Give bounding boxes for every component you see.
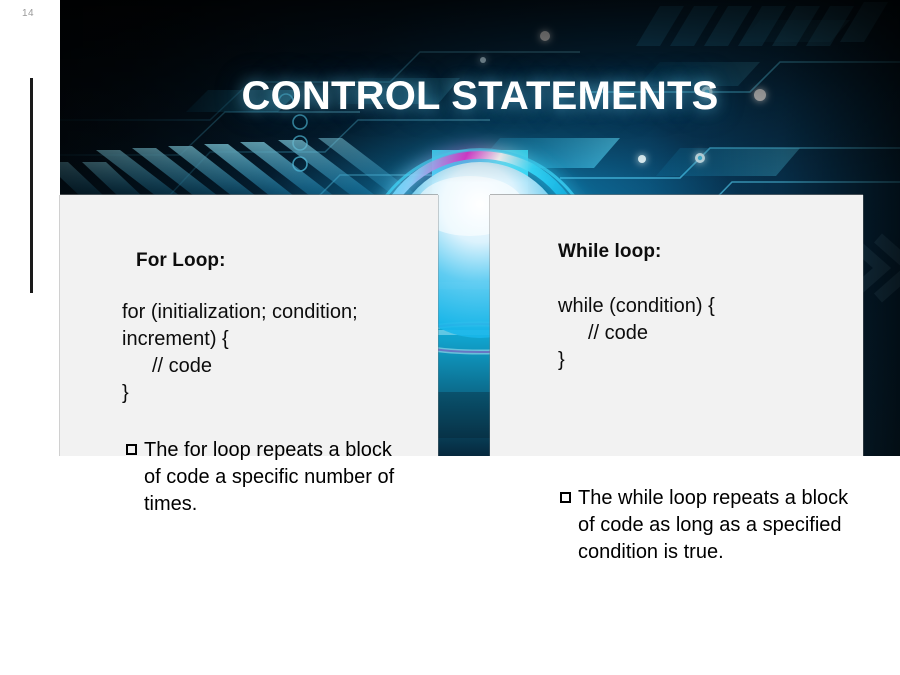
square-bullet-icon [560, 492, 571, 503]
page-title: CONTROL STATEMENTS [60, 74, 900, 119]
while-code-line-2: // code [558, 320, 848, 347]
for-loop-description-text: The for loop repeats a block of code a s… [144, 439, 394, 515]
while-loop-description: The while loop repeats a block of code a… [560, 485, 863, 566]
for-loop-heading: For Loop: [136, 250, 226, 272]
for-code-line-3: } [122, 380, 422, 407]
for-code-line-1: for (initialization; condition; incremen… [122, 299, 422, 353]
left-accent-bar [30, 78, 33, 293]
while-loop-code-block: while (condition) { // code } [558, 293, 848, 374]
for-loop-description: The for loop repeats a block of code a s… [126, 437, 414, 518]
while-loop-description-text: The while loop repeats a block of code a… [578, 487, 848, 563]
slide-number: 14 [22, 8, 34, 19]
while-code-line-1: while (condition) { [558, 293, 848, 320]
while-code-line-3: } [558, 347, 848, 374]
while-loop-heading: While loop: [558, 241, 661, 263]
square-bullet-icon [126, 444, 137, 455]
for-code-line-2: // code [122, 353, 422, 380]
presentation-slide: 14 [0, 0, 900, 675]
for-loop-code-block: for (initialization; condition; incremen… [122, 299, 422, 407]
